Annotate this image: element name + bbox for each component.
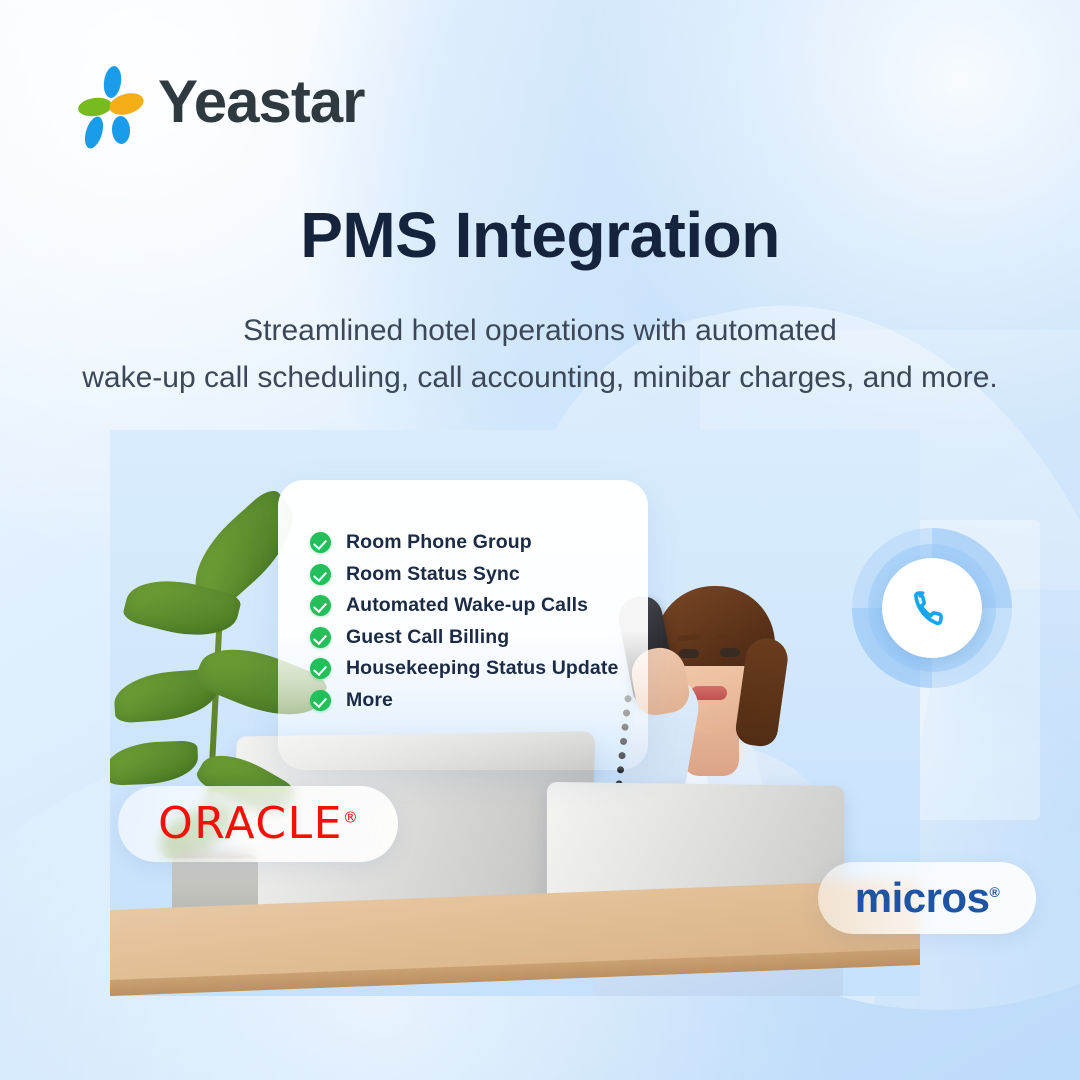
list-item[interactable]: Automated Wake-up Calls xyxy=(310,590,660,622)
logo-wordmark: Yeastar xyxy=(158,72,365,132)
petal-left-green xyxy=(77,96,113,119)
micros-label: micros xyxy=(855,874,990,921)
check-circle-icon xyxy=(310,532,331,553)
micros-badge[interactable]: micros® xyxy=(818,862,1036,934)
feature-label: Room Phone Group xyxy=(346,531,532,554)
list-item[interactable]: Guest Call Billing xyxy=(310,622,660,654)
petal-top-blue xyxy=(102,65,123,99)
feature-list: Room Phone Group Room Status Sync Automa… xyxy=(310,527,660,716)
registered-mark: ® xyxy=(343,808,358,826)
plant-leaf xyxy=(110,740,199,785)
eye-left xyxy=(679,649,699,658)
poster-canvas: Yeastar PMS Integration Streamlined hote… xyxy=(0,0,1080,1080)
check-circle-icon xyxy=(310,595,331,616)
yeastar-pinwheel-icon xyxy=(78,66,144,138)
eye-right xyxy=(720,648,740,657)
check-circle-icon xyxy=(310,658,331,679)
check-circle-icon xyxy=(310,564,331,585)
phone-handset-icon xyxy=(911,587,953,629)
phone-badge[interactable] xyxy=(852,528,1012,688)
subtitle-line-1: Streamlined hotel operations with automa… xyxy=(243,314,837,347)
micros-wordmark: micros® xyxy=(855,877,1000,919)
subtitle-line-2: wake-up call scheduling, call accounting… xyxy=(0,355,1080,402)
check-circle-icon xyxy=(310,690,331,711)
phone-circle[interactable] xyxy=(882,558,982,658)
feature-label: More xyxy=(346,689,393,712)
list-item[interactable]: Housekeeping Status Update xyxy=(310,653,660,685)
list-item[interactable]: More xyxy=(310,685,660,717)
oracle-wordmark: ORACLE® xyxy=(158,802,358,846)
registered-mark: ® xyxy=(989,884,999,900)
feature-label: Automated Wake-up Calls xyxy=(346,594,588,617)
list-item[interactable]: Room Phone Group xyxy=(310,527,660,559)
oracle-badge[interactable]: ORACLE® xyxy=(118,786,398,862)
feature-label: Room Status Sync xyxy=(346,563,520,586)
list-item[interactable]: Room Status Sync xyxy=(310,559,660,591)
page-title: PMS Integration xyxy=(0,198,1080,272)
check-circle-icon xyxy=(310,627,331,648)
petal-bottom-left-blue xyxy=(82,114,107,150)
page-subtitle: Streamlined hotel operations with automa… xyxy=(0,308,1080,401)
feature-label: Housekeeping Status Update xyxy=(346,657,618,680)
yeastar-logo[interactable]: Yeastar xyxy=(78,66,365,138)
oracle-label: ORACLE xyxy=(158,798,343,849)
petal-bottom-right-blue xyxy=(111,116,130,145)
feature-label: Guest Call Billing xyxy=(346,626,509,649)
